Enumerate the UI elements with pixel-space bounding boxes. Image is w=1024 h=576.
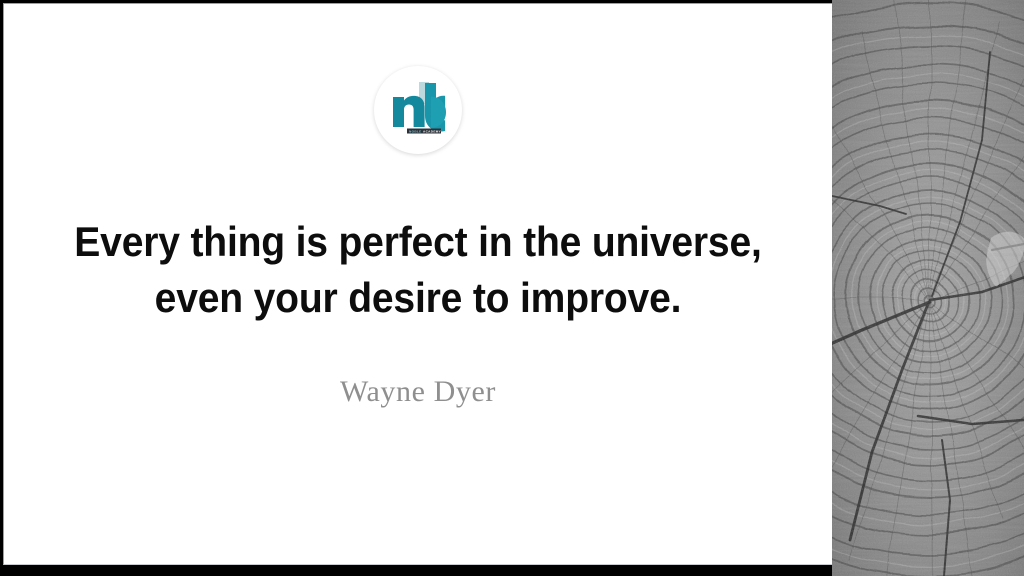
tree-rings-cross-section xyxy=(832,0,1024,576)
logo-wordmark-primary: NOBLE xyxy=(409,129,422,133)
quote-line-2: even your desire to improve. xyxy=(70,270,766,326)
quote-card: NOBLE ACADEMY Every thing is perfect in … xyxy=(3,3,832,565)
quote-line-1: Every thing is perfect in the universe, xyxy=(70,214,766,270)
logo-wordmark-secondary: ACADEMY xyxy=(423,129,442,133)
noble-academy-logo: NOBLE ACADEMY xyxy=(374,66,462,154)
quote-author: Wayne Dyer xyxy=(4,375,832,409)
quote-text: Every thing is perfect in the universe, … xyxy=(4,214,832,326)
quote-slide: NOBLE ACADEMY Every thing is perfect in … xyxy=(0,0,1024,576)
